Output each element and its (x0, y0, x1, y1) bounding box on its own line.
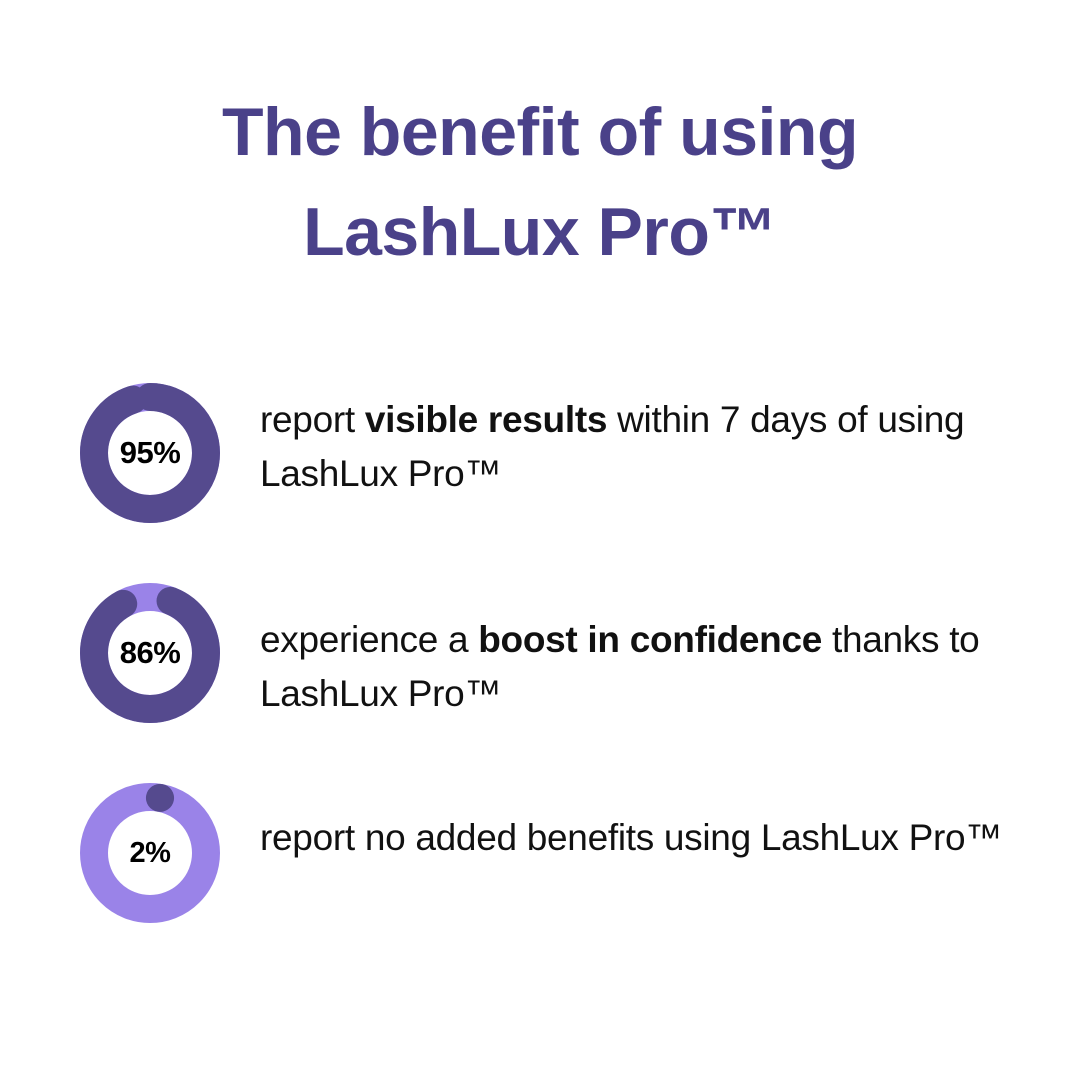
donut-chart-86: 86% (80, 583, 220, 723)
donut-chart-2: 2% (80, 783, 220, 923)
donut-chart-95: 95% (80, 383, 220, 523)
stat-text-emphasis: visible results (365, 399, 607, 440)
donut-value-label: 95% (80, 383, 220, 523)
stat-text-part: report no added benefits using LashLux P… (260, 817, 1002, 858)
stat-text-part: report (260, 399, 365, 440)
stat-description: experience a boost in confidence thanks … (260, 583, 1020, 721)
stat-row: 86% experience a boost in confidence tha… (0, 583, 1080, 783)
stat-text-part: experience a (260, 619, 478, 660)
stat-list: 95% report visible results within 7 days… (0, 383, 1080, 983)
page-title: The benefit of using LashLux Pro™ (0, 82, 1080, 282)
infographic-page: The benefit of using LashLux Pro™ 95% re… (0, 0, 1080, 1080)
donut-value-label: 86% (80, 583, 220, 723)
stat-row: 95% report visible results within 7 days… (0, 383, 1080, 583)
stat-text-emphasis: boost in confidence (478, 619, 822, 660)
page-title-line-2: LashLux Pro™ (0, 182, 1080, 282)
stat-description: report visible results within 7 days of … (260, 383, 1020, 501)
page-title-line-1: The benefit of using (0, 82, 1080, 182)
donut-value-label: 2% (80, 783, 220, 923)
stat-description: report no added benefits using LashLux P… (260, 783, 1020, 865)
stat-row: 2% report no added benefits using LashLu… (0, 783, 1080, 983)
